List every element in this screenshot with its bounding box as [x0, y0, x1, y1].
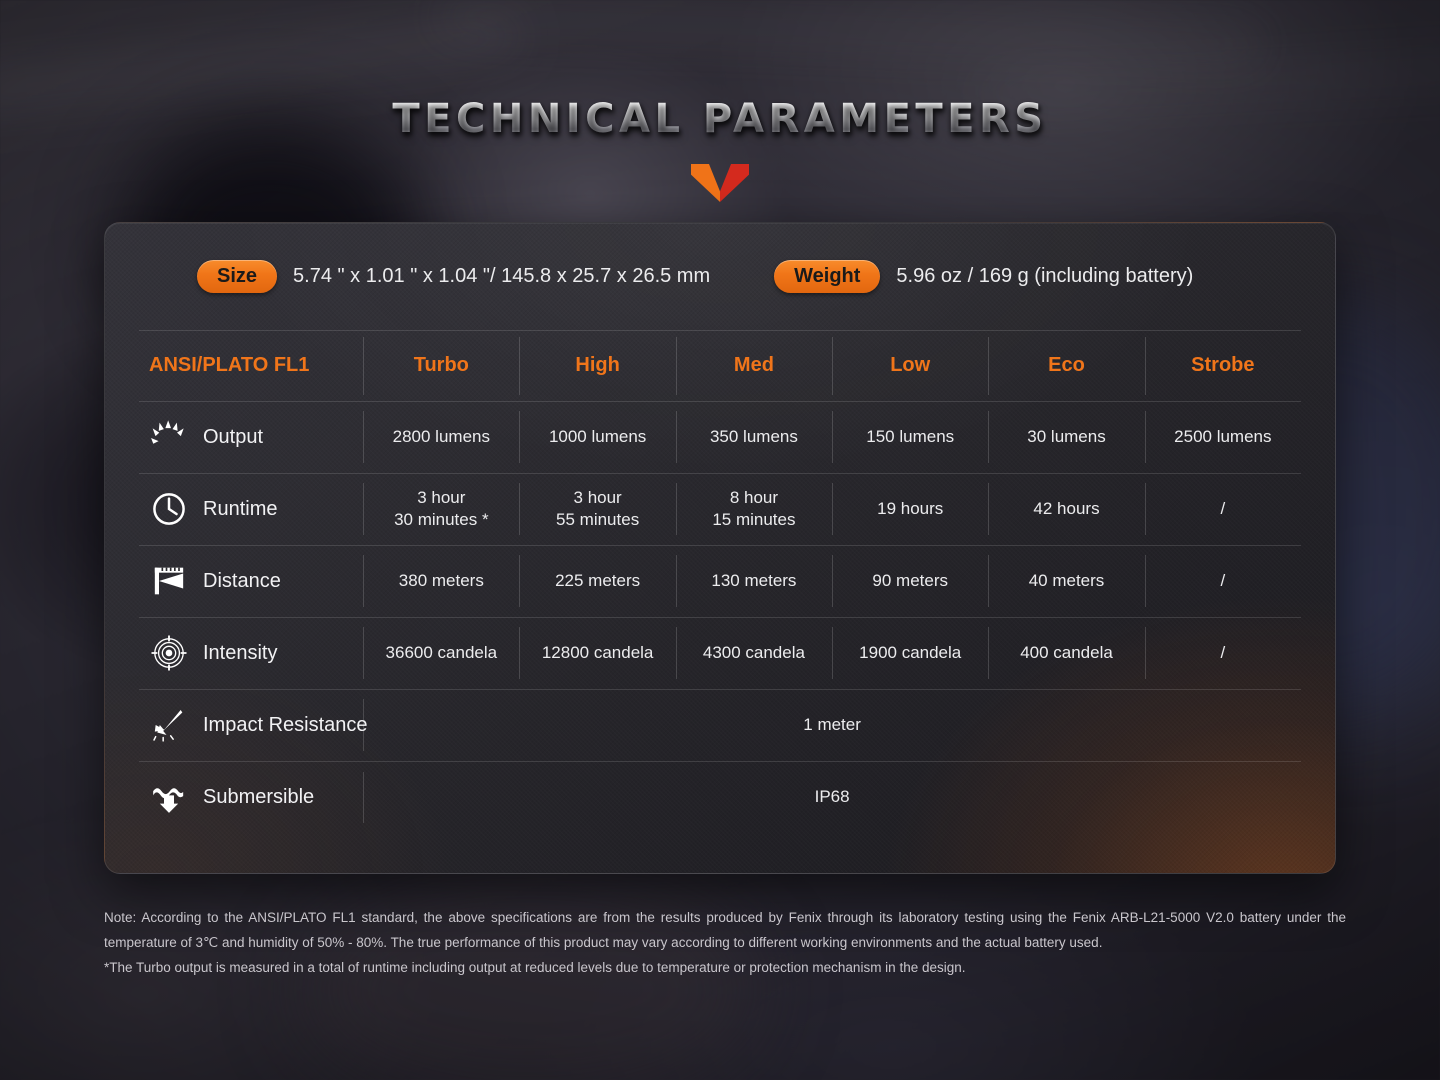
sun-burst-icon [149, 417, 189, 457]
cell-output-high: 1000 lumens [519, 401, 675, 473]
cell-impact-resistance-value: 1 meter [363, 689, 1301, 761]
cell-runtime-strobe: / [1145, 473, 1301, 545]
chevron-right-half [720, 164, 749, 202]
weight-summary: Weight 5.96 oz / 169 g (including batter… [774, 260, 1193, 293]
column-header-med: Med [676, 331, 832, 401]
table-header-row: ANSI/PLATO FL1 Turbo High Med Low Eco St… [139, 331, 1301, 401]
row-label-text: Impact Resistance [203, 714, 368, 737]
cell-intensity-low: 1900 candela [832, 617, 988, 689]
cell-output-med: 350 lumens [676, 401, 832, 473]
summary-row: Size 5.74 " x 1.01 " x 1.04 "/ 145.8 x 2… [139, 223, 1301, 331]
cell-intensity-strobe: / [1145, 617, 1301, 689]
table-row: Output 2800 lumens 1000 lumens 350 lumen… [139, 401, 1301, 473]
specifications-card: Size 5.74 " x 1.01 " x 1.04 "/ 145.8 x 2… [104, 222, 1336, 874]
cell-runtime-turbo: 3 hour30 minutes * [363, 473, 519, 545]
cell-output-eco: 30 lumens [988, 401, 1144, 473]
column-header-turbo: Turbo [363, 331, 519, 401]
chevron-left-half [691, 164, 720, 202]
table-row: Distance 380 meters 225 meters 130 meter… [139, 545, 1301, 617]
cell-intensity-med: 4300 candela [676, 617, 832, 689]
cell-distance-strobe: / [1145, 545, 1301, 617]
impact-drop-icon [149, 705, 189, 745]
cell-distance-eco: 40 meters [988, 545, 1144, 617]
page-title: TECHNICAL PARAMETERS [0, 96, 1440, 142]
row-label-runtime: Runtime [139, 473, 363, 545]
column-header-high: High [519, 331, 675, 401]
table-row: Runtime 3 hour30 minutes * 3 hour55 minu… [139, 473, 1301, 545]
cell-distance-low: 90 meters [832, 545, 988, 617]
cell-output-strobe: 2500 lumens [1145, 401, 1301, 473]
table-row: Submersible IP68 [139, 761, 1301, 833]
cell-runtime-med: 8 hour15 minutes [676, 473, 832, 545]
weight-value: 5.96 oz / 169 g (including battery) [896, 265, 1193, 288]
row-label-text: Output [203, 426, 263, 449]
column-header-eco: Eco [988, 331, 1144, 401]
table-row: Impact Resistance 1 meter [139, 689, 1301, 761]
target-intensity-icon [149, 633, 189, 673]
cell-runtime-low: 19 hours [832, 473, 988, 545]
row-label-text: Distance [203, 570, 281, 593]
row-label-text: Submersible [203, 786, 314, 809]
cell-runtime-high: 3 hour55 minutes [519, 473, 675, 545]
cell-output-turbo: 2800 lumens [363, 401, 519, 473]
heading-section: TECHNICAL PARAMETERS [0, 96, 1440, 202]
table-body: Output 2800 lumens 1000 lumens 350 lumen… [139, 401, 1301, 833]
footnote-line-2: *The Turbo output is measured in a total… [104, 955, 1346, 980]
row-label-output: Output [139, 401, 363, 473]
chevron-down-icon [691, 164, 749, 202]
footnote-line-1: Note: According to the ANSI/PLATO FL1 st… [104, 905, 1346, 955]
footnote: Note: According to the ANSI/PLATO FL1 st… [104, 905, 1346, 980]
row-label-text: Intensity [203, 642, 277, 665]
cell-distance-high: 225 meters [519, 545, 675, 617]
water-submersible-icon [149, 777, 189, 817]
cell-runtime-eco: 42 hours [988, 473, 1144, 545]
beam-distance-icon [149, 561, 189, 601]
cell-distance-turbo: 380 meters [363, 545, 519, 617]
cell-intensity-eco: 400 candela [988, 617, 1144, 689]
size-value: 5.74 " x 1.01 " x 1.04 "/ 145.8 x 25.7 x… [293, 265, 710, 288]
table-header: ANSI/PLATO FL1 Turbo High Med Low Eco St… [139, 331, 1301, 401]
cell-output-low: 150 lumens [832, 401, 988, 473]
row-label-submersible: Submersible [139, 761, 363, 833]
column-header-standard: ANSI/PLATO FL1 [139, 331, 363, 401]
size-badge: Size [197, 260, 277, 293]
row-label-intensity: Intensity [139, 617, 363, 689]
clock-icon [149, 489, 189, 529]
specifications-table: ANSI/PLATO FL1 Turbo High Med Low Eco St… [139, 331, 1301, 833]
table-row: Intensity 36600 candela 12800 candela 43… [139, 617, 1301, 689]
cell-intensity-high: 12800 candela [519, 617, 675, 689]
weight-badge: Weight [774, 260, 880, 293]
row-label-distance: Distance [139, 545, 363, 617]
size-summary: Size 5.74 " x 1.01 " x 1.04 "/ 145.8 x 2… [197, 260, 710, 293]
column-header-strobe: Strobe [1145, 331, 1301, 401]
cell-submersible-value: IP68 [363, 761, 1301, 833]
row-label-impact-resistance: Impact Resistance [139, 689, 363, 761]
cell-intensity-turbo: 36600 candela [363, 617, 519, 689]
cell-distance-med: 130 meters [676, 545, 832, 617]
row-label-text: Runtime [203, 498, 277, 521]
column-header-low: Low [832, 331, 988, 401]
